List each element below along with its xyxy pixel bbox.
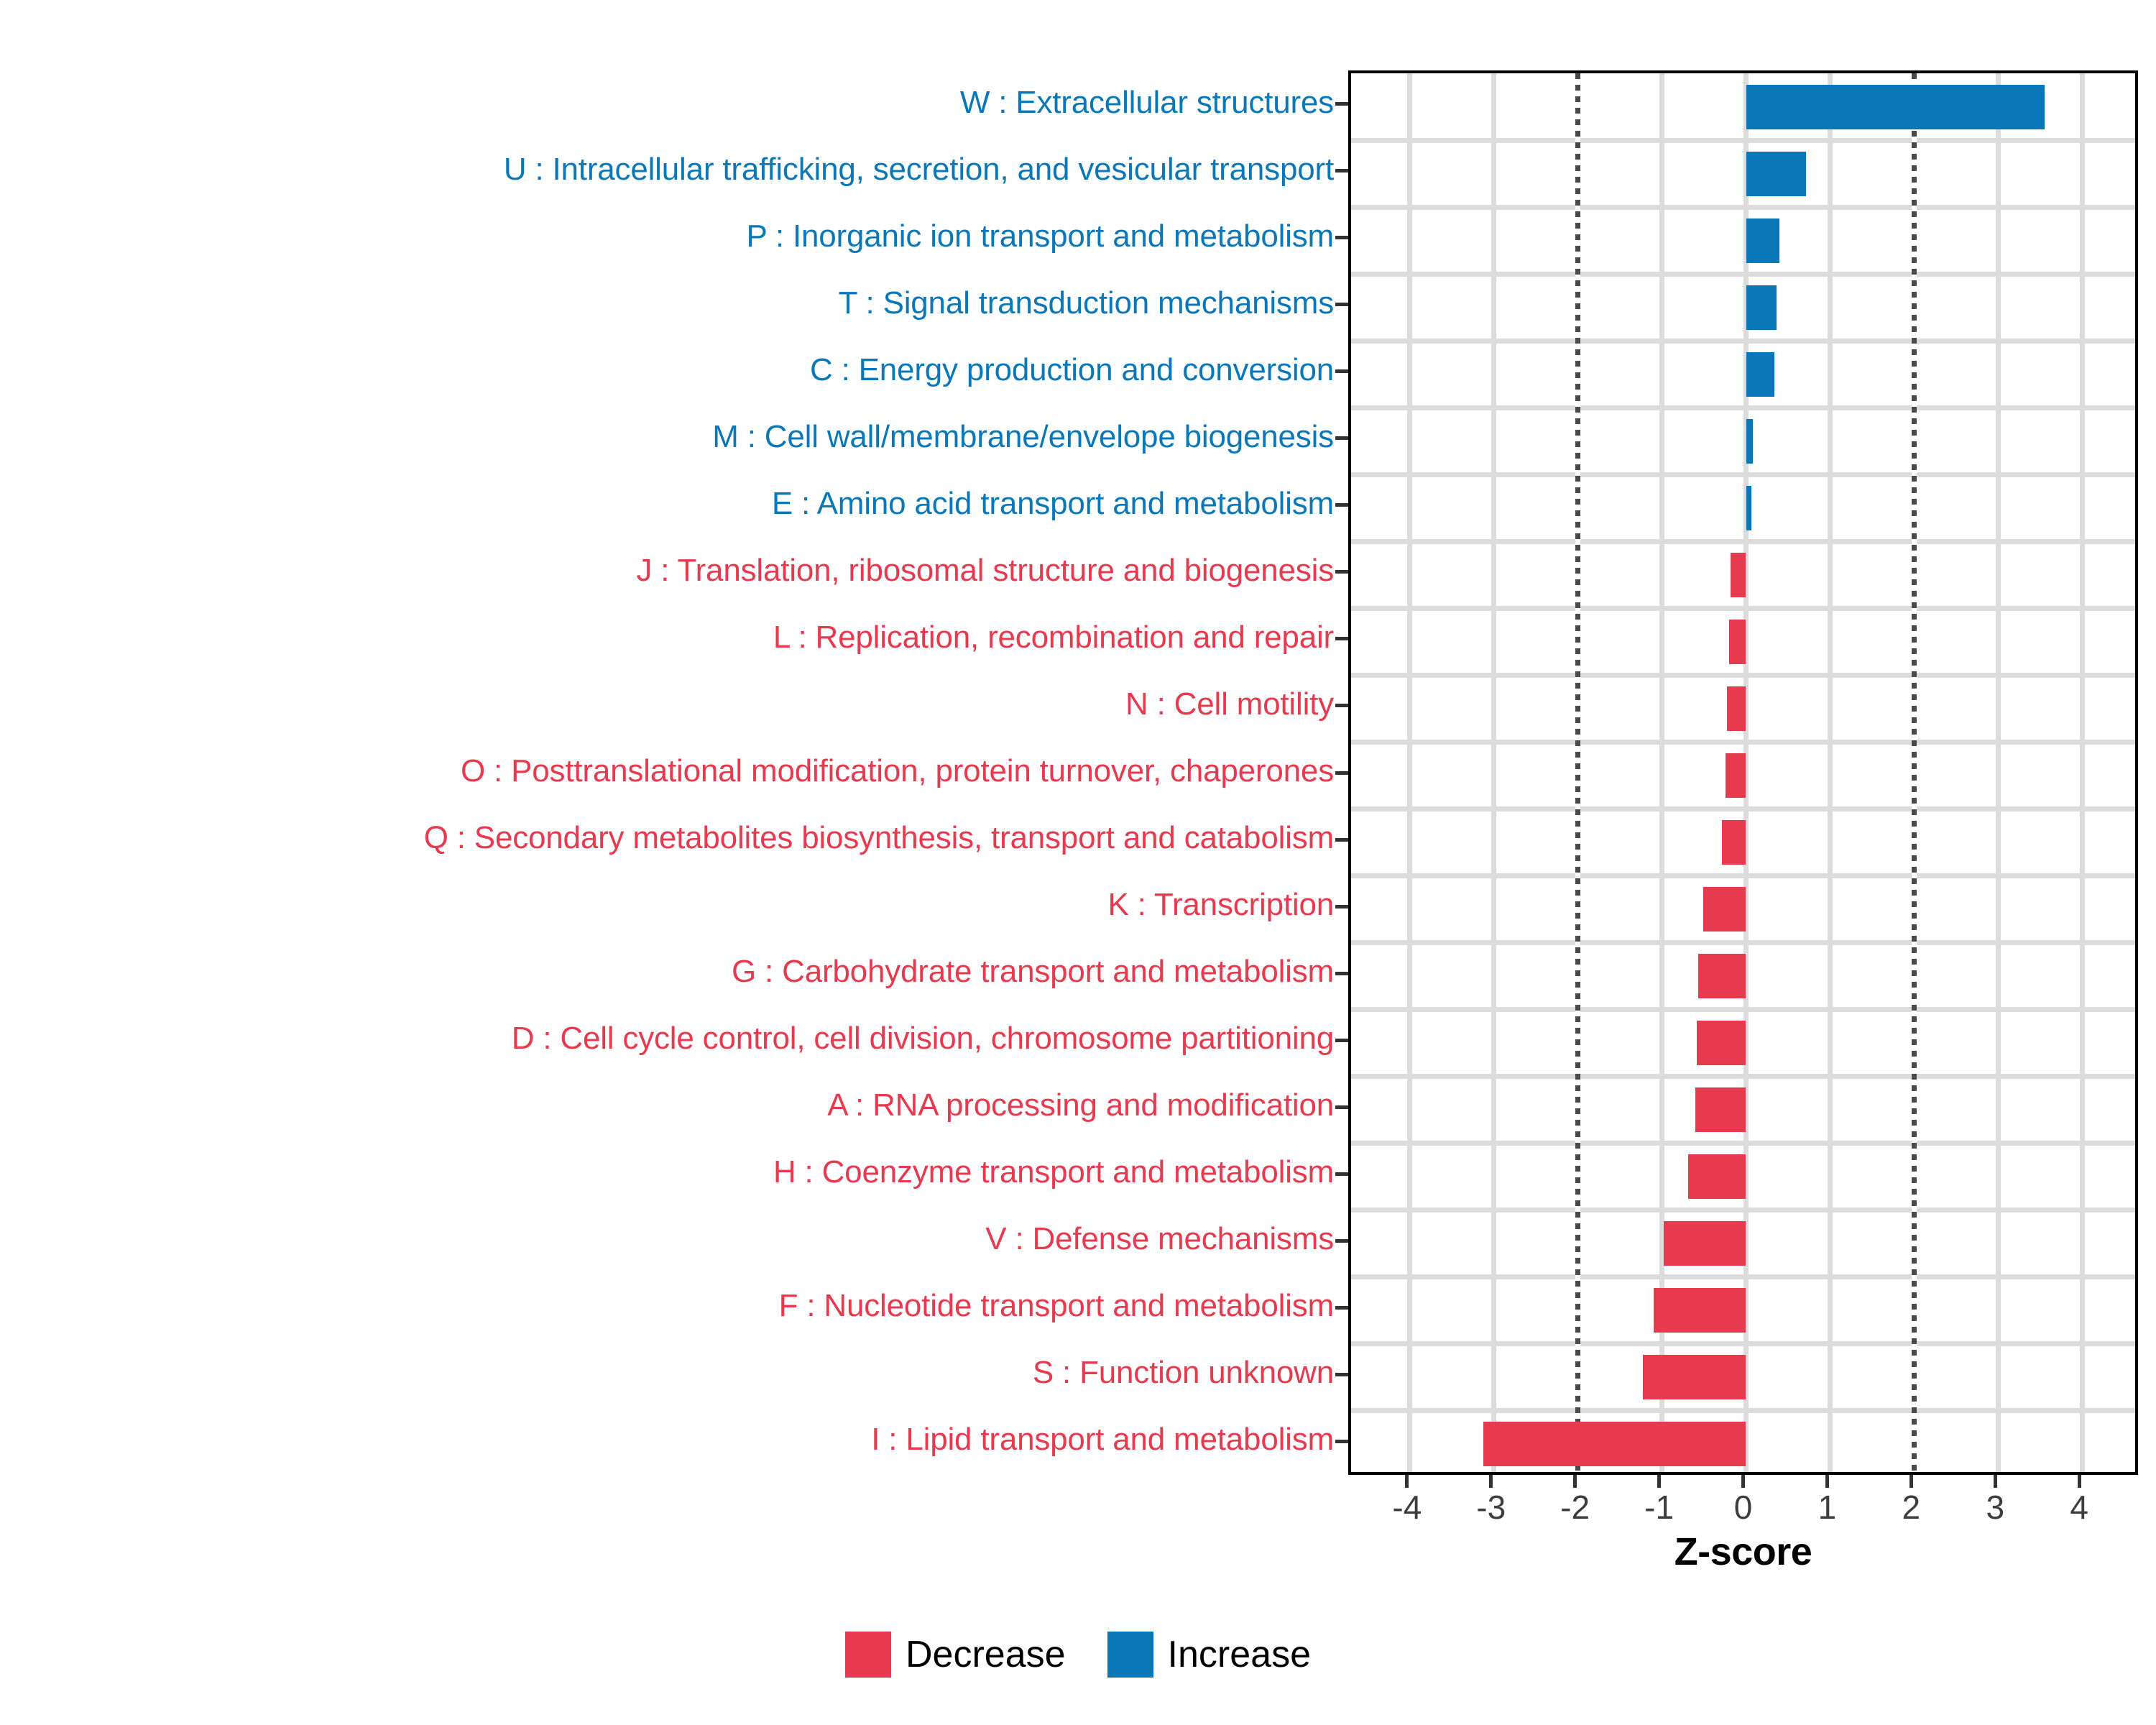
x-tick-label: -2 xyxy=(1532,1491,1618,1524)
y-axis-label: Q : Secondary metabolites biosynthesis, … xyxy=(0,822,1334,854)
y-axis-label: F : Nucleotide transport and metabolism xyxy=(0,1290,1334,1322)
y-axis-label: D : Cell cycle control, cell division, c… xyxy=(0,1023,1334,1054)
x-tick-mark xyxy=(1573,1475,1577,1488)
y-gridline xyxy=(1351,873,2135,878)
y-gridline xyxy=(1351,806,2135,811)
bar[interactable] xyxy=(1703,887,1746,931)
bar[interactable] xyxy=(1731,553,1746,597)
y-tick-mark xyxy=(1335,838,1348,842)
y-tick-mark xyxy=(1335,1306,1348,1310)
y-gridline xyxy=(1351,1141,2135,1146)
y-gridline xyxy=(1351,1207,2135,1213)
y-gridline xyxy=(1351,1007,2135,1012)
y-tick-mark xyxy=(1335,1172,1348,1176)
x-gridline xyxy=(1996,73,2001,1472)
y-tick-mark xyxy=(1335,1039,1348,1042)
y-axis-label: C : Energy production and conversion xyxy=(0,354,1334,386)
x-tick-label: 1 xyxy=(1784,1491,1870,1524)
x-tick-mark xyxy=(1405,1475,1409,1488)
y-tick-mark xyxy=(1335,637,1348,640)
y-gridline xyxy=(1351,405,2135,410)
y-gridline xyxy=(1351,1074,2135,1079)
bar[interactable] xyxy=(1483,1422,1746,1466)
y-axis-label: T : Signal transduction mechanisms xyxy=(0,287,1334,319)
bar[interactable] xyxy=(1746,419,1753,464)
y-gridline xyxy=(1351,138,2135,143)
y-tick-mark xyxy=(1335,102,1348,106)
bar[interactable] xyxy=(1746,218,1780,263)
y-gridline xyxy=(1351,673,2135,678)
y-tick-mark xyxy=(1335,503,1348,507)
x-tick-label: 4 xyxy=(2036,1491,2122,1524)
bar[interactable] xyxy=(1746,486,1751,530)
bar[interactable] xyxy=(1698,954,1746,998)
y-axis-label: J : Translation, ribosomal structure and… xyxy=(0,555,1334,586)
x-tick-mark xyxy=(1825,1475,1829,1488)
y-gridline xyxy=(1351,539,2135,544)
y-axis-label: S : Function unknown xyxy=(0,1357,1334,1389)
plot-panel xyxy=(1348,70,2138,1475)
legend-item[interactable]: Increase xyxy=(1107,1632,1311,1678)
x-tick-label: 3 xyxy=(1952,1491,2038,1524)
y-axis-label: I : Lipid transport and metabolism xyxy=(0,1424,1334,1455)
bar[interactable] xyxy=(1643,1355,1746,1399)
x-gridline xyxy=(1407,73,1412,1472)
y-tick-mark xyxy=(1335,1239,1348,1243)
x-tick-label: 2 xyxy=(1868,1491,1954,1524)
y-tick-mark xyxy=(1335,771,1348,775)
y-gridline xyxy=(1351,205,2135,210)
bar[interactable] xyxy=(1746,352,1775,397)
bar[interactable] xyxy=(1664,1221,1746,1266)
chart-legend: DecreaseIncrease xyxy=(0,1632,2156,1678)
cog-zscore-bar-chart: W : Extracellular structuresU : Intracel… xyxy=(0,0,2156,1725)
x-tick-mark xyxy=(1994,1475,1997,1488)
y-axis-label: V : Defense mechanisms xyxy=(0,1223,1334,1255)
reference-line xyxy=(1575,73,1580,1472)
y-gridline xyxy=(1351,472,2135,477)
y-tick-mark xyxy=(1335,436,1348,440)
y-axis-label: E : Amino acid transport and metabolism xyxy=(0,488,1334,520)
bar[interactable] xyxy=(1688,1154,1746,1199)
y-gridline xyxy=(1351,339,2135,344)
bar[interactable] xyxy=(1726,753,1746,798)
x-tick-label: -3 xyxy=(1448,1491,1534,1524)
y-axis-category-labels: W : Extracellular structuresU : Intracel… xyxy=(0,70,1334,1475)
y-gridline xyxy=(1351,606,2135,611)
y-axis-label: N : Cell motility xyxy=(0,689,1334,720)
x-tick-mark xyxy=(1657,1475,1661,1488)
y-tick-mark xyxy=(1335,905,1348,908)
reference-line xyxy=(1912,73,1917,1472)
bar[interactable] xyxy=(1697,1021,1746,1065)
bar[interactable] xyxy=(1746,152,1806,196)
x-gridline xyxy=(1828,73,1833,1472)
y-axis-label: K : Transcription xyxy=(0,889,1334,921)
x-tick-label: 0 xyxy=(1700,1491,1787,1524)
y-tick-mark xyxy=(1335,169,1348,172)
y-axis-label: G : Carbohydrate transport and metabolis… xyxy=(0,956,1334,988)
y-axis-label: M : Cell wall/membrane/envelope biogenes… xyxy=(0,421,1334,453)
y-tick-mark xyxy=(1335,704,1348,707)
x-gridline xyxy=(2080,73,2085,1472)
y-tick-mark xyxy=(1335,570,1348,574)
x-axis-title: Z-score xyxy=(1348,1529,2138,1574)
bar[interactable] xyxy=(1729,620,1746,664)
bar[interactable] xyxy=(1654,1288,1746,1333)
bar[interactable] xyxy=(1695,1087,1746,1132)
bar[interactable] xyxy=(1746,85,2045,129)
x-tick-mark xyxy=(2078,1475,2081,1488)
legend-label: Increase xyxy=(1168,1636,1311,1673)
y-axis-label: W : Extracellular structures xyxy=(0,87,1334,119)
y-axis-label: O : Posttranslational modification, prot… xyxy=(0,755,1334,787)
x-tick-mark xyxy=(1909,1475,1913,1488)
y-gridline xyxy=(1351,1408,2135,1413)
y-axis-label: A : RNA processing and modification xyxy=(0,1090,1334,1121)
bar[interactable] xyxy=(1727,686,1746,731)
legend-label: Decrease xyxy=(906,1636,1066,1673)
y-axis-label: U : Intracellular trafficking, secretion… xyxy=(0,154,1334,185)
legend-swatch xyxy=(1107,1632,1153,1678)
x-tick-mark xyxy=(1489,1475,1493,1488)
bar[interactable] xyxy=(1722,820,1746,865)
y-tick-mark xyxy=(1335,236,1348,239)
y-tick-mark xyxy=(1335,1373,1348,1376)
x-tick-label: -4 xyxy=(1364,1491,1450,1524)
y-gridline xyxy=(1351,272,2135,277)
bar[interactable] xyxy=(1746,285,1777,330)
y-tick-mark xyxy=(1335,1440,1348,1443)
y-axis-label: L : Replication, recombination and repai… xyxy=(0,622,1334,653)
x-gridline xyxy=(1491,73,1496,1472)
x-tick-mark xyxy=(1741,1475,1745,1488)
y-gridline xyxy=(1351,940,2135,945)
legend-swatch xyxy=(845,1632,891,1678)
y-tick-mark xyxy=(1335,369,1348,373)
y-gridline xyxy=(1351,740,2135,745)
y-axis-label: H : Coenzyme transport and metabolism xyxy=(0,1156,1334,1188)
y-tick-mark xyxy=(1335,303,1348,306)
y-tick-mark xyxy=(1335,972,1348,975)
y-gridline xyxy=(1351,1341,2135,1346)
x-tick-label: -1 xyxy=(1616,1491,1703,1524)
legend-item[interactable]: Decrease xyxy=(845,1632,1066,1678)
y-tick-mark xyxy=(1335,1105,1348,1109)
y-axis-label: P : Inorganic ion transport and metaboli… xyxy=(0,221,1334,252)
y-gridline xyxy=(1351,1274,2135,1279)
